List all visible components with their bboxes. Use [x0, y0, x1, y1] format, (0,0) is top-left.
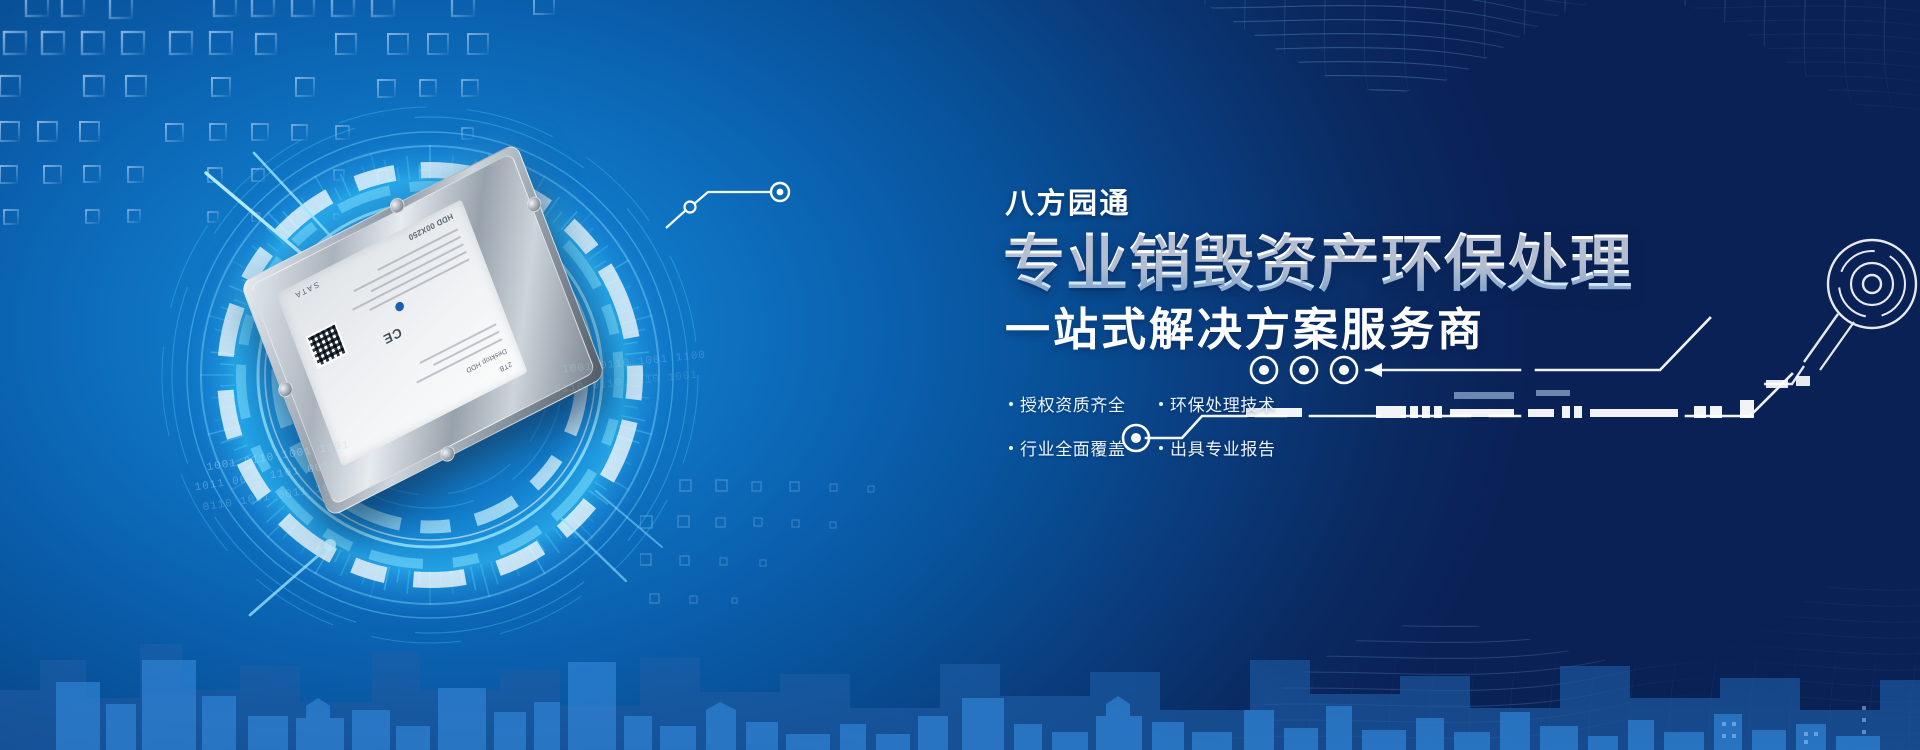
headline: 专业销毁资产环保处理 [1003, 232, 1743, 298]
bullet-item: 出具专业报告 [1159, 435, 1289, 460]
subheadline: 一站式解决方案服务商 [1005, 304, 1743, 356]
bullet-label: 授权资质齐全 [1020, 391, 1126, 416]
bullet-label: 行业全面覆盖 [1020, 435, 1126, 460]
hdd-label-dot [394, 300, 405, 313]
promo-banner: 2TB Desktop HDD CE HDD 00X250 SATA 1001 … [0, 0, 1920, 750]
bullet-item: 环保处理技术 [1159, 391, 1289, 416]
circuit-dial-graphic [1740, 230, 1920, 420]
bullet-dot-icon [1159, 402, 1163, 406]
bullet-item: 授权资质齐全 [1009, 391, 1139, 416]
hdd-label-capacity: 2TB [498, 360, 513, 373]
brand-name: 八方园通 [1005, 180, 1743, 222]
hdd-label-ce-mark: CE [381, 325, 404, 348]
banner-copy: 八方园通 专业销毁资产环保处理 一站式解决方案服务商 授权资质齐全 环保处理技术… [1003, 180, 1743, 460]
hdd-label-qr-code [305, 322, 348, 369]
hdd-label-interface: SATA [292, 280, 320, 301]
bullet-item: 行业全面覆盖 [1009, 435, 1139, 460]
hdd-hud-graphic: 2TB Desktop HDD CE HDD 00X250 SATA 1001 … [150, 95, 710, 655]
bullet-label: 环保处理技术 [1170, 391, 1276, 416]
bullet-label: 出具专业报告 [1170, 435, 1276, 460]
bullet-dot-icon [1009, 402, 1013, 406]
bullet-dot-icon [1159, 446, 1163, 450]
wireframe-mesh-bottom-right [1160, 430, 1920, 750]
feature-bullets: 授权资质齐全 环保处理技术 行业全面覆盖 出具专业报告 [1009, 391, 1329, 460]
leader-node-large [771, 183, 789, 201]
leader-node-core [777, 189, 784, 196]
bullet-dot-icon [1009, 446, 1013, 450]
